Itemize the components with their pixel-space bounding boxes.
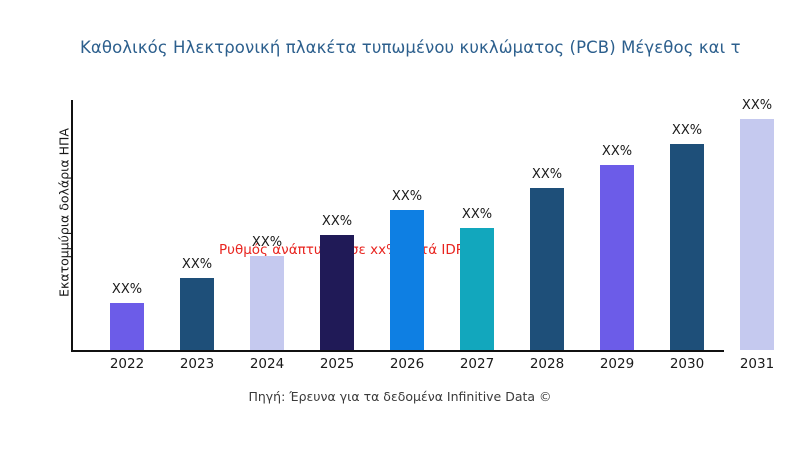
- x-tick-2022: 2022: [92, 356, 162, 372]
- x-tick-2025: 2025: [302, 356, 372, 372]
- bar-value-label-2023: XX%: [182, 257, 212, 272]
- bar-group-2027[interactable]: XX%: [460, 228, 494, 350]
- bar-2031[interactable]: [740, 119, 774, 350]
- bar-group-2029[interactable]: XX%: [600, 165, 634, 350]
- bar-group-2024[interactable]: XX%: [250, 256, 284, 350]
- bar-value-label-2028: XX%: [532, 167, 562, 182]
- bar-value-label-2030: XX%: [672, 123, 702, 138]
- chart-title: Καθολικός Ηλεκτρονική πλακέτα τυπωμένου …: [80, 38, 800, 57]
- plot-area: Ρυθμός ανάπτυξης σε xx% κατά IDR XX%XX%X…: [71, 100, 780, 352]
- source-note: Πηγή: Έρευνα για τα δεδομένα Infinitive …: [0, 389, 800, 404]
- bar-2022[interactable]: [110, 303, 144, 350]
- chart-container: Καθολικός Ηλεκτρονική πλακέτα τυπωμένου …: [0, 0, 800, 450]
- bar-value-label-2031: XX%: [742, 98, 772, 113]
- x-tick-2031: 2031: [722, 356, 792, 372]
- x-tick-2026: 2026: [372, 356, 442, 372]
- bar-2027[interactable]: [460, 228, 494, 350]
- bar-2030[interactable]: [670, 144, 704, 350]
- x-tick-2029: 2029: [582, 356, 652, 372]
- bar-group-2026[interactable]: XX%: [390, 210, 424, 350]
- bar-group-2028[interactable]: XX%: [530, 188, 564, 350]
- y-axis-label: Εκατομμύρια δολάρια ΗΠΑ: [57, 63, 72, 363]
- bar-value-label-2027: XX%: [462, 207, 492, 222]
- bar-2023[interactable]: [180, 278, 214, 350]
- bar-value-label-2024: XX%: [252, 235, 282, 250]
- x-tick-2028: 2028: [512, 356, 582, 372]
- x-tick-2023: 2023: [162, 356, 232, 372]
- bar-2024[interactable]: [250, 256, 284, 350]
- bar-value-label-2026: XX%: [392, 189, 422, 204]
- bar-group-2022[interactable]: XX%: [110, 303, 144, 350]
- bar-2028[interactable]: [530, 188, 564, 350]
- bar-value-label-2022: XX%: [112, 282, 142, 297]
- bar-group-2031[interactable]: XX%: [740, 119, 774, 350]
- bar-group-2030[interactable]: XX%: [670, 144, 704, 350]
- x-tick-2027: 2027: [442, 356, 512, 372]
- x-tick-2030: 2030: [652, 356, 722, 372]
- bar-2029[interactable]: [600, 165, 634, 350]
- bar-2025[interactable]: [320, 235, 354, 350]
- bar-group-2023[interactable]: XX%: [180, 278, 214, 350]
- y-axis-line: [71, 100, 73, 352]
- x-tick-2024: 2024: [232, 356, 302, 372]
- bar-group-2025[interactable]: XX%: [320, 235, 354, 350]
- x-axis-line: [71, 350, 724, 352]
- bar-2026[interactable]: [390, 210, 424, 350]
- bar-value-label-2029: XX%: [602, 144, 632, 159]
- bar-value-label-2025: XX%: [322, 214, 352, 229]
- x-axis-tick-labels: 2022202320242025202620272028202920302031: [71, 356, 780, 380]
